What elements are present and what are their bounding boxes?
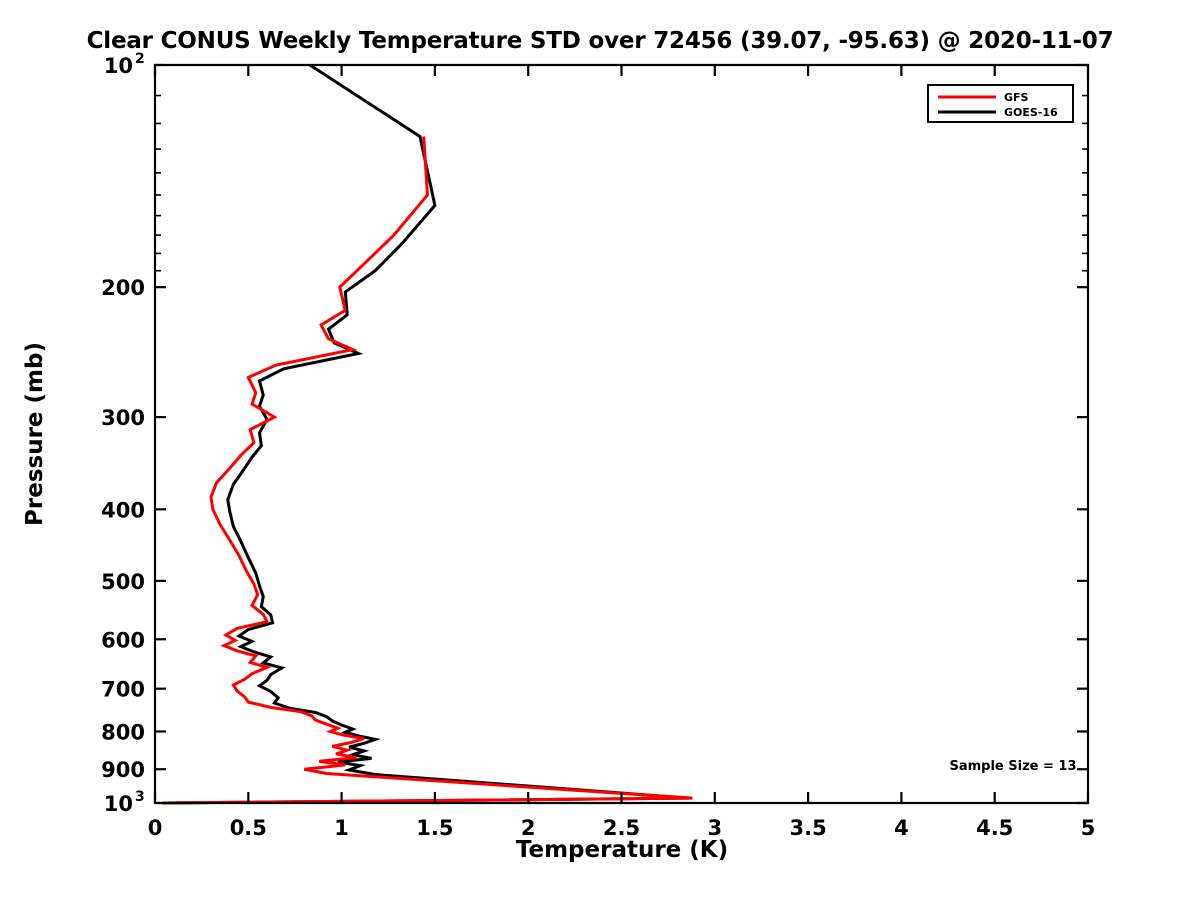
svg-text:10: 10	[104, 54, 133, 78]
chart-page: Clear CONUS Weekly Temperature STD over …	[0, 0, 1200, 900]
svg-text:700: 700	[101, 678, 145, 702]
legend-label-gfs: GFS	[1004, 91, 1029, 104]
series-group	[162, 65, 692, 803]
y-tick-label: 500	[101, 570, 145, 594]
y-tick-label: 300	[101, 406, 145, 430]
svg-text:2: 2	[135, 51, 145, 67]
x-tick-label: 4	[894, 816, 909, 840]
axes-group	[155, 65, 1088, 803]
y-tick-label: 700	[101, 678, 145, 702]
x-tick-label: 1	[334, 816, 349, 840]
y-tick-label: 600	[101, 628, 145, 652]
sample-size-annotation: Sample Size = 13	[949, 759, 1076, 774]
y-tick-label: 400	[101, 498, 145, 522]
chart-legend[interactable]: GFS GOES-16	[928, 85, 1073, 122]
svg-text:200: 200	[101, 276, 145, 300]
x-tick-label: 5	[1081, 816, 1096, 840]
x-tick-label: 0.5	[230, 816, 267, 840]
svg-text:900: 900	[101, 758, 145, 782]
y-tick-label: 200	[101, 276, 145, 300]
svg-text:800: 800	[101, 720, 145, 744]
temperature-std-profile-chart: 00.511.522.533.544.551022003004005006007…	[0, 0, 1200, 900]
y-tick-label: 102	[104, 51, 145, 78]
svg-text:10: 10	[104, 792, 133, 816]
svg-text:600: 600	[101, 628, 145, 652]
x-tick-label: 0	[148, 816, 163, 840]
y-axis-title: Pressure (mb)	[22, 342, 48, 526]
svg-text:3: 3	[135, 789, 145, 805]
y-tick-label: 900	[101, 758, 145, 782]
x-axis-title: Temperature (K)	[516, 837, 728, 863]
svg-text:400: 400	[101, 498, 145, 522]
y-tick-label: 800	[101, 720, 145, 744]
legend-label-goes16: GOES-16	[1004, 106, 1058, 119]
x-tick-label: 4.5	[976, 816, 1013, 840]
svg-text:300: 300	[101, 406, 145, 430]
svg-text:500: 500	[101, 570, 145, 594]
y-tick-label: 103	[104, 789, 145, 816]
axis-frame	[155, 65, 1088, 803]
x-tick-label: 3.5	[789, 816, 826, 840]
x-tick-label: 1.5	[416, 816, 453, 840]
